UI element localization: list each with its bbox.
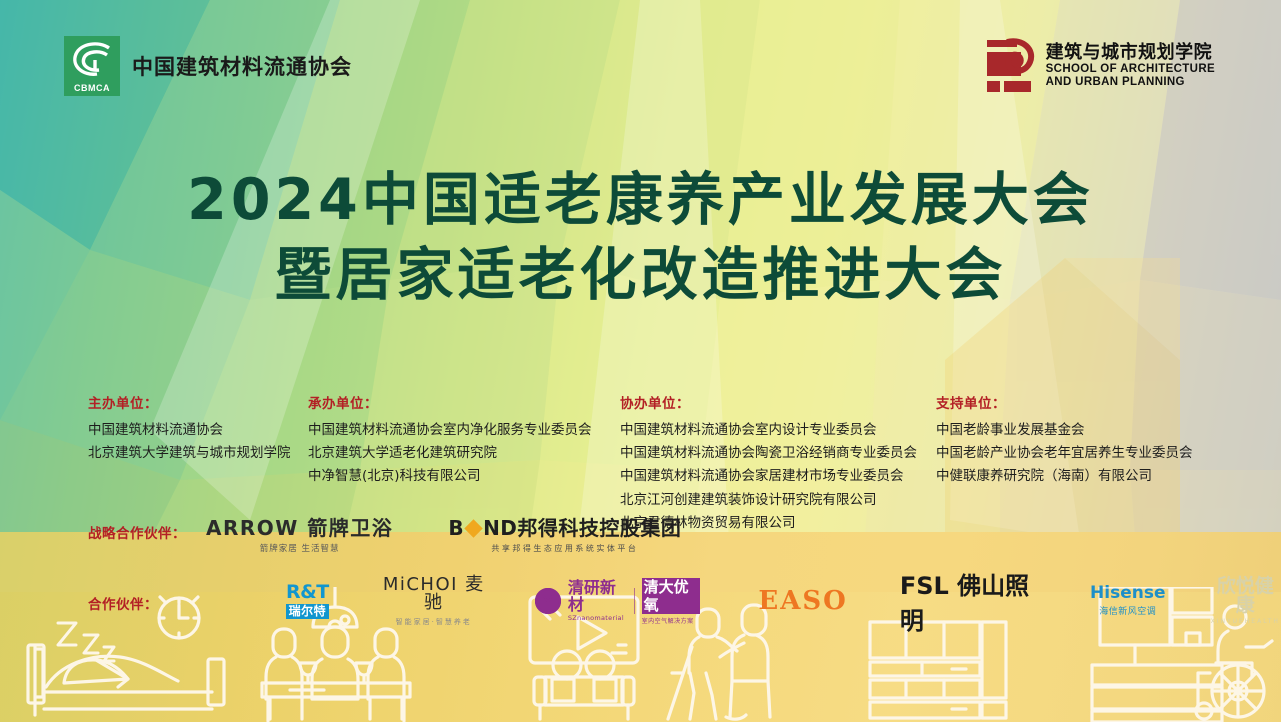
organizer-heading: 协办单位：	[620, 392, 917, 412]
organizer-column-coorganizer: 协办单位： 中国建筑材料流通协会室内设计专业委员会 中国建筑材料流通协会陶瓷卫浴…	[620, 392, 917, 535]
cbmca-abbrev: CBMCA	[74, 84, 110, 93]
cbmca-name: 中国建筑材料流通协会	[132, 51, 352, 81]
easo-logo: EASO	[758, 586, 847, 616]
michoi-logo-name: MiCHOI 麦驰	[377, 576, 491, 612]
cooperation-partners-row: 合作伙伴： R&T 瑞尔特 MiCHOI 麦驰 智能家居·智慧养老 清研新材 S…	[88, 566, 1281, 636]
organizer-item: 中国建筑材料流通协会陶瓷卫浴经销商专业委员会	[620, 442, 917, 465]
sleeping-bed-icon	[28, 645, 224, 715]
qingyan-circle-icon	[535, 588, 561, 614]
poster-title: 2024中国适老康养产业发展大会 暨居家适老化改造推进大会	[0, 163, 1281, 313]
organizer-column-supporter: 支持单位： 中国老龄事业发展基金会 中国老龄产业协会老年宜居养生专业委员会 中健…	[936, 392, 1193, 489]
school-of-architecture-logo: 建筑与城市规划学院 SCHOOL OF ARCHITECTURE AND URB…	[985, 38, 1215, 94]
organizer-item: 中国建筑材料流通协会室内净化服务专业委员会	[308, 419, 592, 442]
qingda-logo-name: 清大优氧	[642, 578, 701, 614]
arrow-logo-slogan: 箭牌家居 生活智慧	[206, 542, 393, 554]
organizer-item: 中国建筑材料流通协会家居建材市场专业委员会	[620, 465, 917, 488]
organizer-heading: 主办单位：	[88, 392, 291, 412]
organizer-item: 中国老龄事业发展基金会	[936, 419, 1193, 442]
bond-logo: B ND邦得科技控股集团 共享邦得生态应用系统实体平台	[448, 518, 681, 554]
organizer-item: 中国建筑材料流通协会	[88, 419, 291, 442]
bond-logo-name-a: B	[448, 518, 464, 539]
organizer-item: 北京建筑大学建筑与城市规划学院	[88, 442, 291, 465]
rt-logo-name: R&T	[286, 583, 329, 602]
title-line-2: 暨居家适老化改造推进大会	[0, 238, 1281, 313]
rt-logo-cn: 瑞尔特	[286, 604, 329, 619]
organizer-heading: 支持单位：	[936, 392, 1193, 412]
qingyan-mark-icon	[535, 588, 561, 614]
organizer-item: 北京建筑大学适老化建筑研究院	[308, 442, 592, 465]
qingyan-logo-name: 清研新材	[568, 580, 627, 614]
michoi-logo: MiCHOI 麦驰 智能家居·智慧养老	[377, 576, 491, 627]
school-name-en-line1: SCHOOL OF ARCHITECTURE	[1046, 63, 1215, 76]
qingda-logo-sub: 室内空气解决方案	[642, 616, 701, 625]
qingyan-logo: 清研新材 SZnanomaterial 清大优氧 室内空气解决方案	[535, 578, 701, 625]
conference-poster: CBMCA 中国建筑材料流通协会 建筑与城市规划学院 SCHOOL OF ARC…	[0, 0, 1281, 722]
xinyue-logo: 欣悦健康 XINYUEHEALTH	[1210, 577, 1281, 625]
organizer-heading: 承办单位：	[308, 392, 592, 412]
organizer-item: 中健联康养研究院（海南）有限公司	[936, 465, 1193, 488]
arrow-logo: ARROW 箭牌卫浴 箭牌家居 生活智慧	[206, 518, 393, 554]
bond-logo-slogan: 共享邦得生态应用系统实体平台	[448, 543, 681, 554]
cbmca-logo-mark: CBMCA	[64, 36, 120, 96]
organizer-column-host: 主办单位： 中国建筑材料流通协会 北京建筑大学建筑与城市规划学院	[88, 392, 291, 465]
cooperation-partners-label: 合作伙伴：	[88, 589, 198, 613]
school-logo-mark	[985, 38, 1035, 94]
organizer-column-organizer: 承办单位： 中国建筑材料流通协会室内净化服务专业委员会 北京建筑大学适老化建筑研…	[308, 392, 592, 489]
school-name-en-line2: AND URBAN PLANNING	[1046, 76, 1215, 89]
fsl-logo-name: FSL 佛山照明	[900, 566, 1044, 636]
strategic-partners-row: 战略合作伙伴： ARROW 箭牌卫浴 箭牌家居 生活智慧 B ND邦得科技控股集…	[88, 518, 681, 554]
rt-logo: R&T 瑞尔特	[286, 583, 329, 619]
organizer-item: 中国老龄产业协会老年宜居养生专业委员会	[936, 442, 1193, 465]
qingyan-divider	[634, 588, 635, 614]
xinyue-logo-sub: XINYUEHEALTH	[1210, 618, 1281, 625]
michoi-logo-slogan: 智能家居·智慧养老	[377, 617, 491, 627]
hisense-logo-name: Hisense	[1090, 585, 1165, 602]
fsl-logo: FSL 佛山照明	[900, 566, 1044, 636]
cbmca-swirl-icon	[69, 40, 115, 80]
kitchen-cabinet-icon	[870, 622, 1006, 718]
title-line-1: 2024中国适老康养产业发展大会	[0, 163, 1281, 238]
school-name-cn: 建筑与城市规划学院	[1046, 43, 1215, 63]
organizer-item: 北京江河创建建筑装饰设计研究院有限公司	[620, 489, 917, 512]
hisense-logo-sub: 海信新风空调	[1090, 604, 1165, 617]
qingyan-logo-sub: SZnanomaterial	[568, 614, 627, 622]
cbmca-logo: CBMCA 中国建筑材料流通协会	[64, 36, 352, 96]
xinyue-logo-name: 欣悦健康	[1210, 577, 1281, 615]
hisense-logo: Hisense 海信新风空调	[1090, 585, 1165, 617]
organizer-item: 中国建筑材料流通协会室内设计专业委员会	[620, 419, 917, 442]
bond-logo-name-b: ND邦得科技控股集团	[483, 518, 681, 539]
strategic-partners-label: 战略合作伙伴：	[88, 518, 198, 542]
arrow-logo-name: ARROW 箭牌卫浴	[206, 518, 393, 539]
organizer-item: 中净智慧(北京)科技有限公司	[308, 465, 592, 488]
bond-diamond-icon	[464, 519, 482, 537]
